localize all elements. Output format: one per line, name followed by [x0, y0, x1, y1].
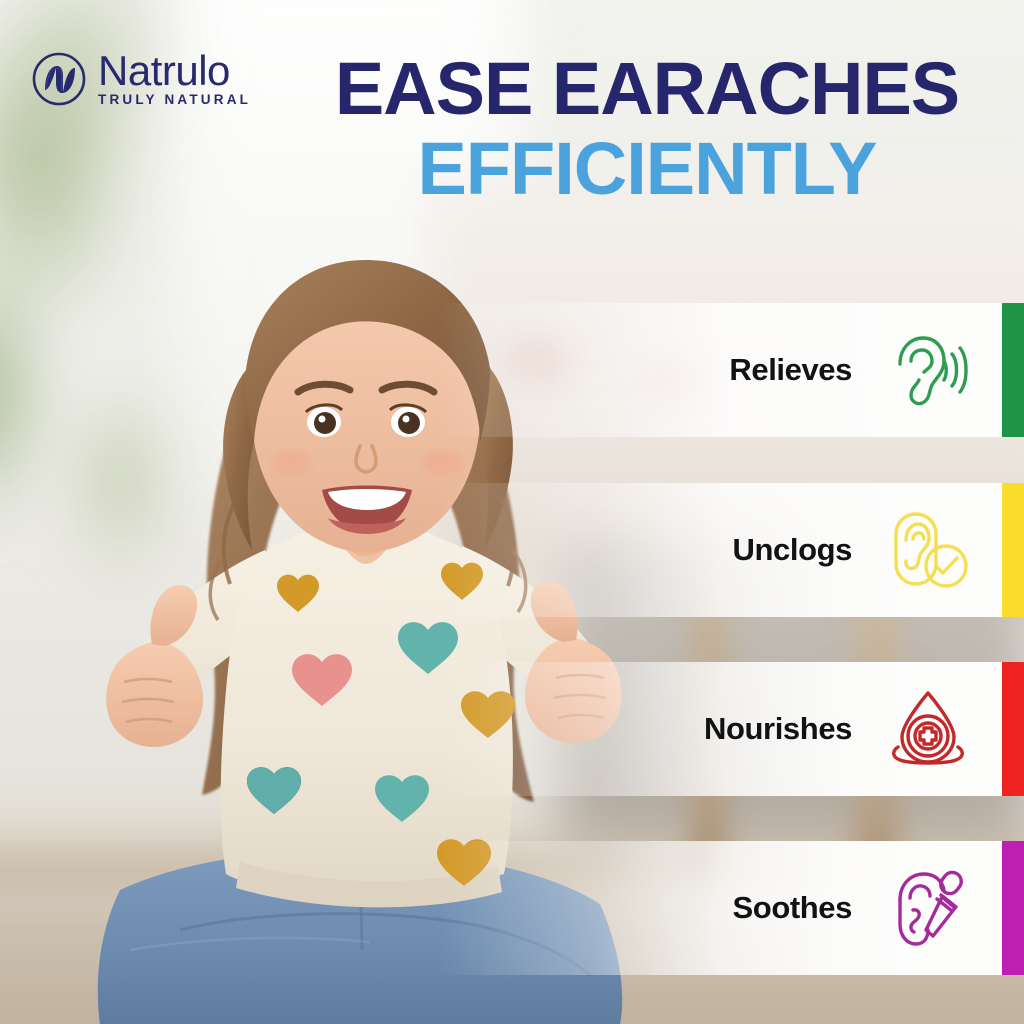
card-accent-bar — [1002, 841, 1024, 975]
ear-with-dropper-icon — [886, 866, 970, 950]
headline-line-1: EASE EARACHES — [300, 52, 994, 126]
natrulo-n-monogram-icon — [30, 50, 88, 108]
page-title: EASE EARACHES EFFICIENTLY — [300, 52, 994, 208]
brand-tagline: TRULY NATURAL — [98, 92, 251, 107]
feature-card-relieves[interactable]: Relieves — [80, 303, 1024, 437]
feature-card-soothes[interactable]: Soothes — [80, 841, 1024, 975]
card-accent-bar — [1002, 303, 1024, 437]
feature-label: Relieves — [729, 352, 852, 388]
ear-with-sound-waves-icon — [886, 328, 970, 412]
brand-logo[interactable]: Natrulo TRULY NATURAL — [30, 50, 251, 108]
feature-label: Soothes — [733, 890, 853, 926]
feature-card-nourishes[interactable]: Nourishes — [80, 662, 1024, 796]
droplet-with-medical-cross-icon — [886, 687, 970, 771]
feature-label: Nourishes — [704, 711, 852, 747]
feature-label: Unclogs — [733, 532, 853, 568]
headline-line-2: EFFICIENTLY — [300, 130, 994, 208]
brand-name: Natrulo — [98, 51, 251, 91]
ear-with-check-badge-icon — [886, 508, 970, 592]
card-accent-bar — [1002, 662, 1024, 796]
card-accent-bar — [1002, 483, 1024, 617]
feature-card-unclogs[interactable]: Unclogs — [80, 483, 1024, 617]
